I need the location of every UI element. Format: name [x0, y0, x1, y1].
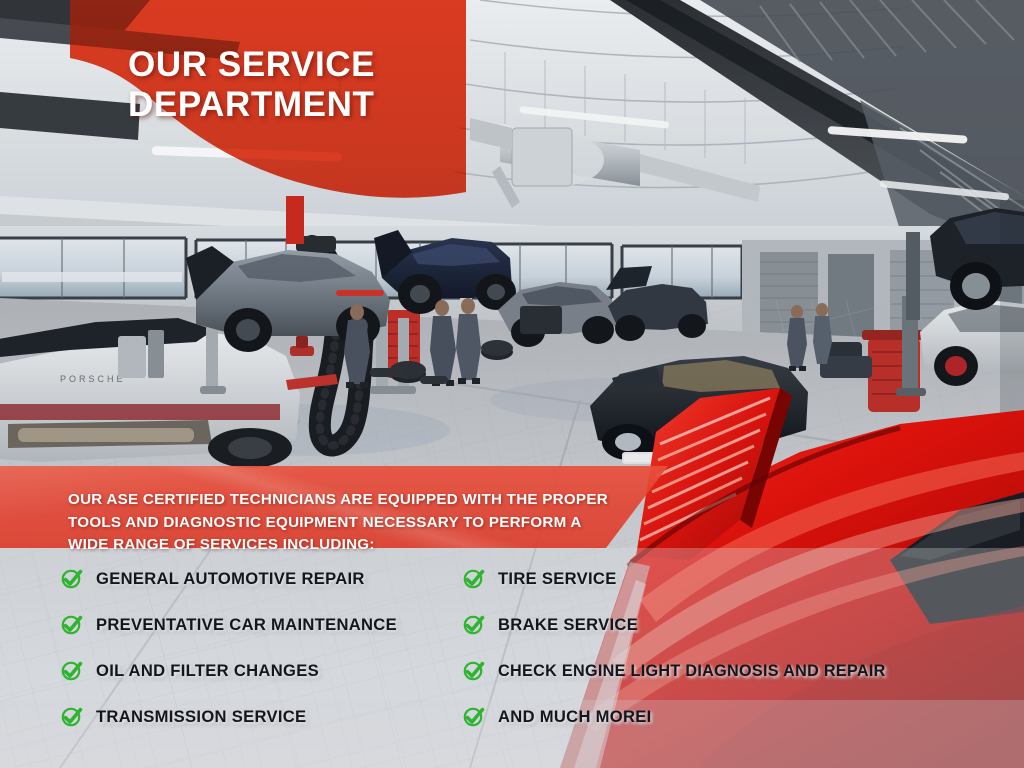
- check-circle-icon: [60, 659, 84, 683]
- check-circle-icon: [462, 705, 486, 729]
- list-item: TRANSMISSION SERVICE: [60, 694, 460, 740]
- list-item-label: OIL AND FILTER CHANGES: [96, 661, 319, 681]
- check-circle-icon: [462, 567, 486, 591]
- list-item: PREVENTATIVE CAR MAINTENANCE: [60, 602, 460, 648]
- list-item: AND MUCH MOREI: [462, 694, 1002, 740]
- list-item-label: GENERAL AUTOMOTIVE REPAIR: [96, 569, 365, 589]
- list-item-label: PREVENTATIVE CAR MAINTENANCE: [96, 615, 397, 635]
- list-item-label: CHECK ENGINE LIGHT DIAGNOSIS AND REPAIR: [498, 662, 886, 681]
- check-circle-icon: [462, 613, 486, 637]
- check-circle-icon: [60, 567, 84, 591]
- check-circle-icon: [60, 613, 84, 637]
- service-department-poster: PORSCHE: [0, 0, 1024, 768]
- list-item: CHECK ENGINE LIGHT DIAGNOSIS AND REPAIR: [462, 648, 1002, 694]
- services-left-column: GENERAL AUTOMOTIVE REPAIR PREVENTATIVE C…: [60, 556, 460, 740]
- intro-text: OUR ASE CERTIFIED TECHNICIANS ARE EQUIPP…: [68, 489, 608, 556]
- services-checklist: GENERAL AUTOMOTIVE REPAIR PREVENTATIVE C…: [0, 556, 1024, 768]
- list-item: OIL AND FILTER CHANGES: [60, 648, 460, 694]
- check-circle-icon: [462, 659, 486, 683]
- list-item-label: TRANSMISSION SERVICE: [96, 707, 306, 727]
- list-item: BRAKE SERVICE: [462, 602, 1002, 648]
- list-item: GENERAL AUTOMOTIVE REPAIR: [60, 556, 460, 602]
- page-title: OUR SERVICE DEPARTMENT: [128, 45, 458, 123]
- list-item: TIRE SERVICE: [462, 556, 1002, 602]
- services-right-column: TIRE SERVICE BRAKE SERVICE: [462, 556, 1002, 740]
- check-circle-icon: [60, 705, 84, 729]
- list-item-label: TIRE SERVICE: [498, 569, 617, 589]
- list-item-label: AND MUCH MOREI: [498, 707, 652, 727]
- list-item-label: BRAKE SERVICE: [498, 615, 638, 635]
